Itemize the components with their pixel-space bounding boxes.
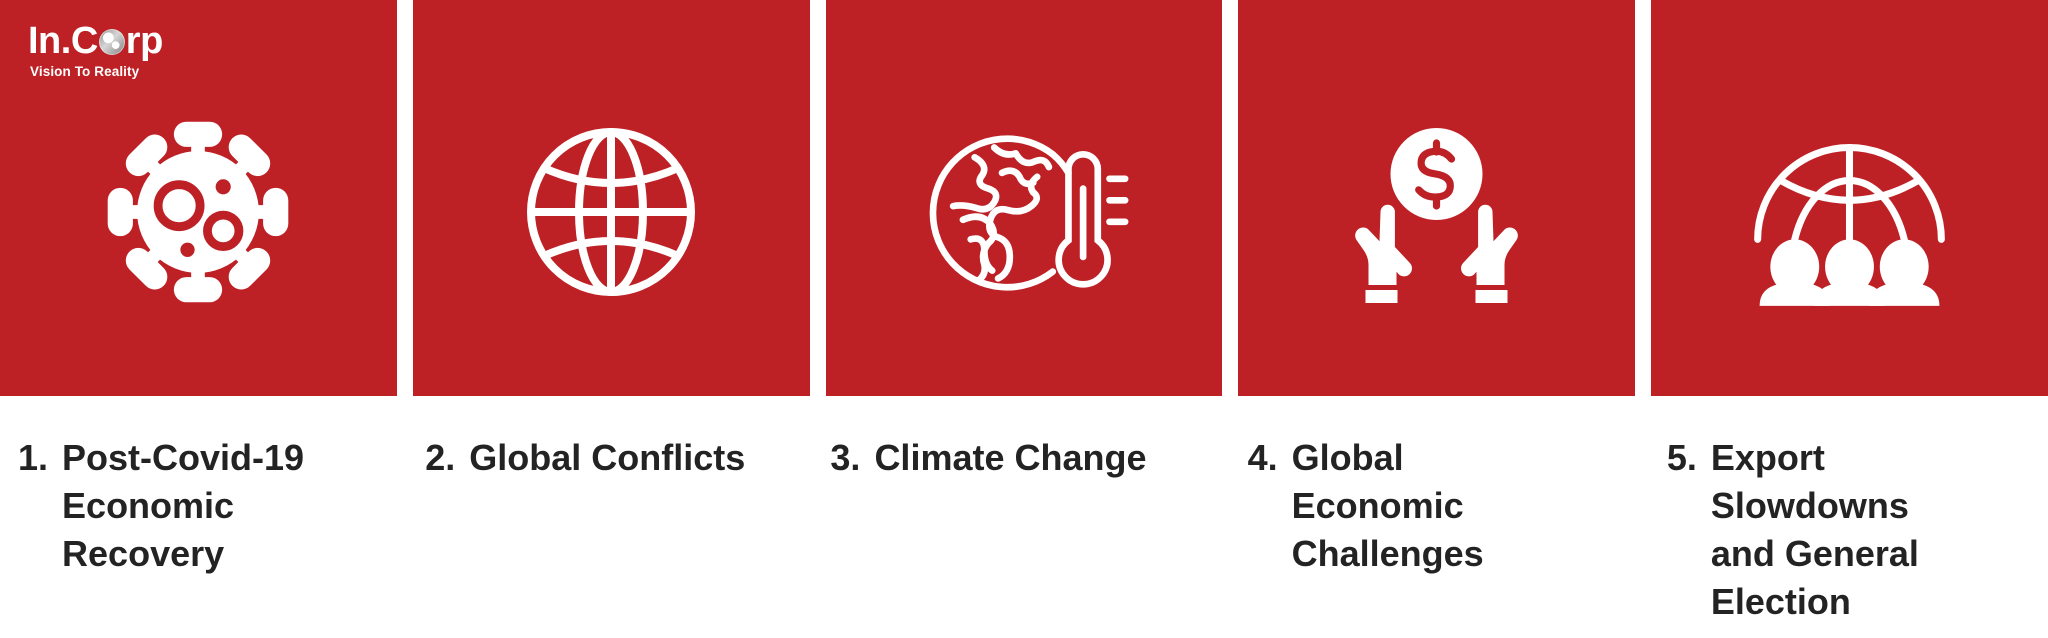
caption-5-number: 5. <box>1667 434 1711 482</box>
caption-5: 5. Export Slowdowns and General Election <box>1645 404 2048 638</box>
virus-icon <box>83 97 313 327</box>
panel-4-global-economic-challenges[interactable] <box>1238 0 1635 396</box>
caption-4-title: Global Economic Challenges <box>1292 434 1502 578</box>
logo-wordmark: In.Crp <box>28 22 278 60</box>
logo-dot: . <box>61 22 71 60</box>
caption-4-number: 4. <box>1248 434 1292 482</box>
globe-wireframe-icon <box>496 97 726 327</box>
globe-people-icon <box>1735 97 1965 327</box>
caption-1-number: 1. <box>18 434 62 482</box>
logo-text-c: C <box>71 22 98 60</box>
panel-1-post-covid[interactable]: In.Crp Vision To Reality <box>0 0 397 396</box>
caption-3: 3. Climate Change <box>822 404 1211 638</box>
caption-3-number: 3. <box>830 434 874 482</box>
panel-3-climate-change[interactable] <box>826 0 1223 396</box>
globe-o-icon <box>99 29 125 55</box>
caption-row: 1. Post-Covid-19 Economic Recovery 2. Gl… <box>0 404 2048 638</box>
caption-1: 1. Post-Covid-19 Economic Recovery <box>0 404 399 638</box>
icon-panel-row: In.Crp Vision To Reality <box>0 0 2048 396</box>
logo-text-rp: rp <box>126 22 163 60</box>
caption-1-title: Post-Covid-19 Economic Recovery <box>62 434 312 578</box>
panel-2-global-conflicts[interactable] <box>413 0 810 396</box>
infographic-board: In.Crp Vision To Reality <box>0 0 2048 638</box>
caption-4: 4. Global Economic Challenges <box>1228 404 1629 638</box>
caption-2: 2. Global Conflicts <box>415 404 806 638</box>
incorp-logo: In.Crp Vision To Reality <box>28 22 278 92</box>
caption-2-title: Global Conflicts <box>469 434 745 482</box>
panel-5-export-slowdowns[interactable] <box>1651 0 2048 396</box>
earth-thermometer-icon <box>909 97 1139 327</box>
logo-tagline: Vision To Reality <box>30 64 278 79</box>
caption-2-number: 2. <box>425 434 469 482</box>
logo-text-in: In <box>28 22 61 60</box>
hands-holding-dollar-icon <box>1322 97 1552 327</box>
caption-5-title: Export Slowdowns and General Election <box>1711 434 1926 626</box>
caption-3-title: Climate Change <box>874 434 1146 482</box>
